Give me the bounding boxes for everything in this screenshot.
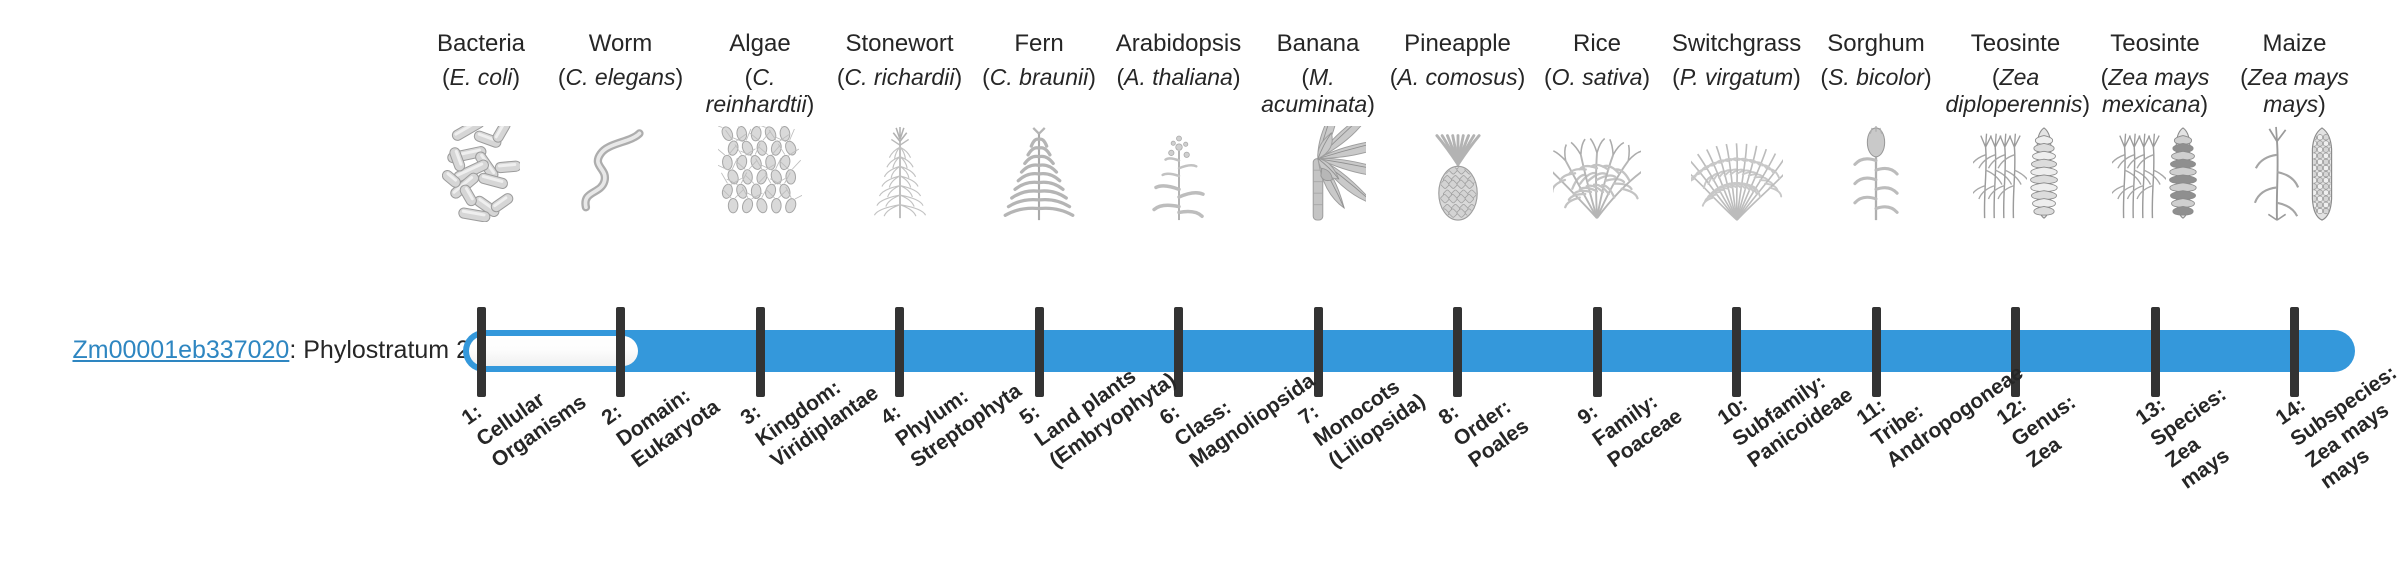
species-column: Worm(C. elegans) <box>551 30 691 222</box>
species-common-name: Rice <box>1527 30 1667 60</box>
species-column: Arabidopsis(A. thaliana) <box>1109 30 1249 222</box>
species-scientific-name: (S. bicolor) <box>1806 64 1946 120</box>
sci-paren-close: ) <box>1793 64 1801 90</box>
sci-paren-open: ( <box>442 64 450 90</box>
sci-paren-open: ( <box>2240 64 2248 90</box>
teosinte-diplo-icon <box>1946 126 2086 222</box>
sci-paren-close: ) <box>1642 64 1650 90</box>
species-scientific-name: (Zea mays mexicana) <box>2085 64 2225 120</box>
species-common-name: Fern <box>969 30 1109 60</box>
species-column: Bacteria(E. coli) <box>411 30 551 222</box>
banana-icon <box>1248 126 1388 222</box>
sci-binomial: Zea mays mays <box>2248 64 2349 117</box>
sci-paren-open: ( <box>558 64 566 90</box>
species-common-name: Banana <box>1248 30 1388 60</box>
gene-id-link[interactable]: Zm00001eb337020 <box>72 336 289 364</box>
sci-paren-open: ( <box>1992 64 2000 90</box>
species-column: Sorghum(S. bicolor) <box>1806 30 1946 222</box>
sci-binomial: P. virgatum <box>1680 64 1793 90</box>
gene-phylostratum-label: Zm00001eb337020: Phylostratum 2 <box>40 335 470 365</box>
rice-icon <box>1527 126 1667 222</box>
sci-paren-close: ) <box>807 91 815 117</box>
sci-paren-open: ( <box>1544 64 1552 90</box>
sci-paren-close: ) <box>1924 64 1932 90</box>
species-column: Teosinte(Zea mays mexicana) <box>2085 30 2225 222</box>
sci-paren-close: ) <box>675 64 683 90</box>
species-scientific-name: (A. comosus) <box>1388 64 1528 120</box>
algae-icon <box>690 126 830 222</box>
sci-binomial: Zea mays mexicana <box>2102 64 2209 117</box>
species-column: Banana(M. acuminata) <box>1248 30 1388 222</box>
gene-label-separator: : <box>289 336 303 364</box>
species-common-name: Bacteria <box>411 30 551 60</box>
sci-paren-close: ) <box>1088 64 1096 90</box>
species-common-name: Pineapple <box>1388 30 1528 60</box>
species-column: Switchgrass(P. virgatum) <box>1667 30 1807 222</box>
species-scientific-name: (Zea mays mays) <box>2225 64 2365 120</box>
sci-binomial: C. braunii <box>990 64 1088 90</box>
sorghum-icon <box>1806 126 1946 222</box>
species-column: Maize(Zea mays mays) <box>2225 30 2365 222</box>
sci-binomial: C. richardii <box>845 64 955 90</box>
sci-binomial: C. reinhardtii <box>706 64 807 117</box>
sci-paren-close: ) <box>2318 91 2326 117</box>
worm-icon <box>551 126 691 222</box>
sci-paren-close: ) <box>2200 91 2208 117</box>
pineapple-icon <box>1388 126 1528 222</box>
sci-binomial: A. thaliana <box>1124 64 1233 90</box>
sci-paren-open: ( <box>1672 64 1680 90</box>
species-scientific-name: (P. virgatum) <box>1667 64 1807 120</box>
sci-paren-open: ( <box>1116 64 1124 90</box>
species-scientific-name: (C. braunii) <box>969 64 1109 120</box>
species-scientific-name: (E. coli) <box>411 64 551 120</box>
maize-icon <box>2225 126 2365 222</box>
sci-binomial: M. acuminata <box>1261 64 1367 117</box>
sci-paren-close: ) <box>1518 64 1526 90</box>
sci-binomial: E. coli <box>450 64 513 90</box>
phylostratigraphy-figure: Zm00001eb337020: Phylostratum 2 Bacteria… <box>0 0 2400 580</box>
sci-binomial: Zea diploperennis <box>1946 64 2083 117</box>
species-scientific-name: (C. elegans) <box>551 64 691 120</box>
sci-paren-open: ( <box>982 64 990 90</box>
fern-icon <box>969 126 1109 222</box>
switchgrass-icon <box>1667 126 1807 222</box>
sci-binomial: S. bicolor <box>1828 64 1924 90</box>
species-common-name: Switchgrass <box>1667 30 1807 60</box>
phylostratum-value-text: Phylostratum 2 <box>303 336 470 364</box>
species-common-name: Sorghum <box>1806 30 1946 60</box>
sci-paren-close: ) <box>1367 91 1375 117</box>
species-scientific-name: (O. sativa) <box>1527 64 1667 120</box>
species-scientific-name: (M. acuminata) <box>1248 64 1388 120</box>
species-common-name: Teosinte <box>2085 30 2225 60</box>
sci-binomial: A. comosus <box>1397 64 1517 90</box>
species-common-name: Maize <box>2225 30 2365 60</box>
species-column: Stonewort(C. richardii) <box>830 30 970 222</box>
stonewort-icon <box>830 126 970 222</box>
species-scientific-name: (C. richardii) <box>830 64 970 120</box>
species-common-name: Algae <box>690 30 830 60</box>
species-common-name: Stonewort <box>830 30 970 60</box>
sci-binomial: C. elegans <box>566 64 676 90</box>
species-scientific-name: (A. thaliana) <box>1109 64 1249 120</box>
arabidopsis-icon <box>1109 126 1249 222</box>
species-scientific-name: (Zea diploperennis) <box>1946 64 2086 120</box>
species-column: Rice(O. sativa) <box>1527 30 1667 222</box>
species-column: Algae(C. reinhardtii) <box>690 30 830 222</box>
species-common-name: Worm <box>551 30 691 60</box>
species-scientific-name: (C. reinhardtii) <box>690 64 830 120</box>
sci-paren-close: ) <box>1233 64 1241 90</box>
phylostratum-tick[interactable] <box>477 307 486 397</box>
sci-paren-open: ( <box>1820 64 1828 90</box>
bacteria-icon <box>411 126 551 222</box>
species-common-name: Arabidopsis <box>1109 30 1249 60</box>
sci-paren-close: ) <box>954 64 962 90</box>
sci-binomial: O. sativa <box>1552 64 1643 90</box>
species-column: Fern(C. braunii) <box>969 30 1109 222</box>
teosinte-mexicana-icon <box>2085 126 2225 222</box>
species-common-name: Teosinte <box>1946 30 2086 60</box>
sci-paren-open: ( <box>1301 64 1309 90</box>
species-column: Pineapple(A. comosus) <box>1388 30 1528 222</box>
sci-paren-close: ) <box>512 64 520 90</box>
species-column: Teosinte(Zea diploperennis) <box>1946 30 2086 222</box>
sci-paren-open: ( <box>837 64 845 90</box>
